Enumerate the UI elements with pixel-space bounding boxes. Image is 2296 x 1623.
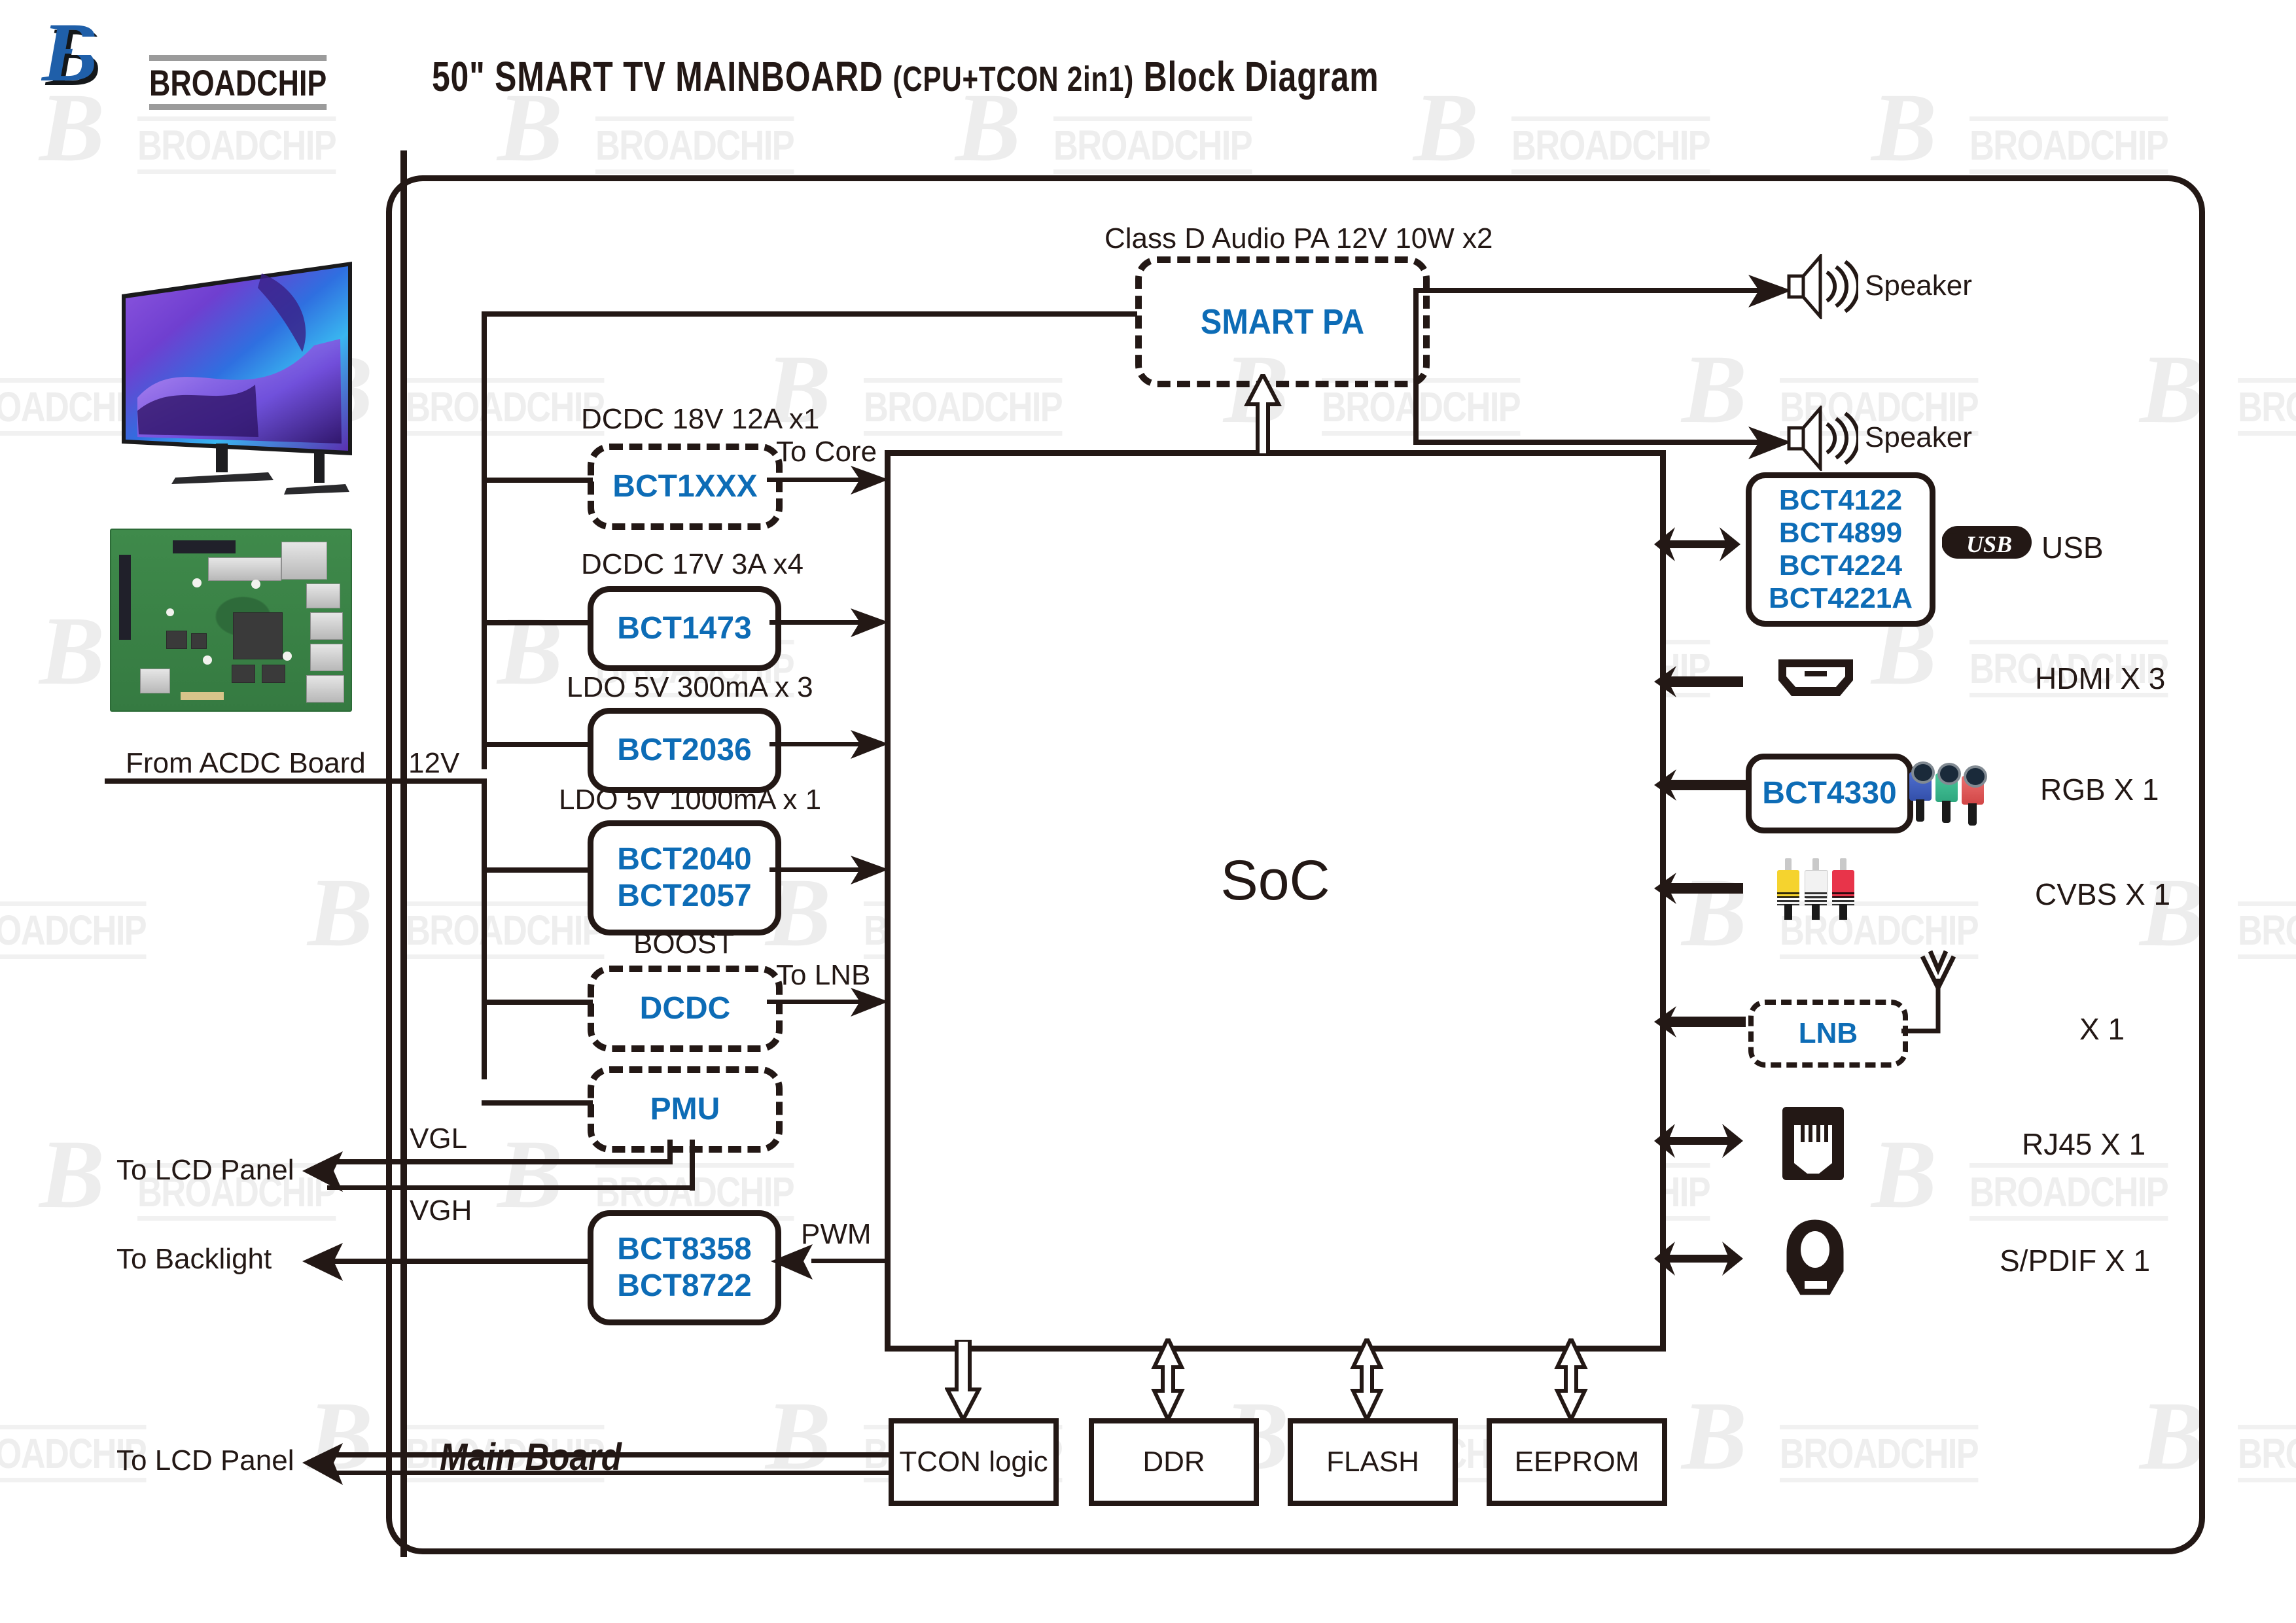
vgh-line — [327, 1185, 695, 1190]
usb-icon: USB — [1942, 522, 2028, 560]
arrow-soc-to-smartpa — [1243, 374, 1282, 455]
bct2040-2057-block[interactable]: BCT2040 BCT2057 — [588, 820, 781, 935]
vgh-label: VGH — [410, 1195, 472, 1227]
board-left-bus — [400, 150, 407, 1557]
eeprom-label: EEPROM — [1515, 1444, 1640, 1480]
smart-pa-block[interactable]: SMART PA — [1135, 256, 1430, 387]
arrow-soc-to-ddr — [1149, 1338, 1187, 1420]
mainboard-photo — [110, 529, 352, 712]
bct4221a-label: BCT4221A — [1769, 582, 1913, 615]
title-paren: (CPU+TCON 2in1) — [892, 60, 1134, 99]
logo-wordmark: BROADCHIP — [149, 55, 327, 110]
arrowhead-rail3 — [851, 726, 889, 763]
lnb-count-label: X 1 — [2079, 1011, 2125, 1047]
usb-parts-block[interactable]: BCT4122 BCT4899 BCT4224 BCT4221A — [1746, 472, 1935, 627]
rail-caption-boost: BOOST — [633, 928, 734, 960]
usb-label: USB — [2041, 530, 2104, 565]
arrowhead-rail4 — [851, 852, 889, 888]
component-rca-icon — [1909, 759, 1994, 831]
dcdc-boost-block[interactable]: DCDC — [588, 966, 783, 1052]
arrowhead-speaker-1 — [1748, 271, 1792, 311]
rgb-label: RGB X 1 — [2040, 772, 2159, 807]
bct4122-label: BCT4122 — [1779, 484, 1902, 517]
dcdc-boost-label: DCDC — [640, 990, 731, 1027]
rj45-icon — [1778, 1103, 1848, 1187]
arrowhead-speaker-2 — [1748, 423, 1792, 463]
tv-product-image — [98, 247, 373, 502]
rail-12v-to-smartpa — [482, 311, 1137, 317]
logo-b-cut — [71, 37, 105, 55]
watermark-text: BROADCHIP — [1053, 116, 1252, 174]
vgl-label: VGL — [410, 1123, 467, 1155]
pwm-line — [811, 1259, 889, 1263]
page-title: 50" SMART TV MAINBOARD (CPU+TCON 2in1) B… — [432, 54, 1379, 102]
broadchip-logo: B BROADCHIP — [39, 14, 347, 93]
smart-pa-label: SMART PA — [1201, 304, 1364, 340]
acdc-to-rail — [400, 778, 486, 784]
to-lcd-panel-label-top: To LCD Panel — [116, 1154, 294, 1187]
bct1xxx-block[interactable]: BCT1XXX — [588, 444, 783, 530]
arrowhead-rail2 — [851, 604, 889, 641]
rail3-in-line — [482, 742, 593, 747]
tcon-logic-block[interactable]: TCON logic — [889, 1418, 1059, 1506]
rail-caption-dcdc-17v: DCDC 17V 3A x4 — [581, 548, 804, 581]
pmu-block[interactable]: PMU — [588, 1066, 783, 1153]
arrow-soc-to-eeprom — [1552, 1338, 1590, 1420]
soc-block[interactable]: SoC — [885, 450, 1666, 1352]
bct8722-label: BCT8722 — [617, 1268, 751, 1304]
rail5-in-line — [482, 1000, 593, 1005]
hdmi-icon — [1775, 654, 1857, 705]
watermark-b-glyph: B — [308, 864, 373, 962]
tcon-out-line-a — [327, 1452, 890, 1457]
spdif-icon — [1780, 1215, 1850, 1304]
ddr-label: DDR — [1142, 1444, 1205, 1480]
soc-label: SoC — [891, 848, 1660, 913]
arrow-soc-hdmi — [1654, 663, 1743, 700]
watermark-text: BROADCHIP — [2238, 901, 2296, 959]
lnb-label: LNB — [1799, 1015, 1858, 1052]
rail-12v-down — [482, 778, 487, 1079]
class-d-audio-caption: Class D Audio PA 12V 10W x2 — [1104, 222, 1492, 255]
arrow-soc-rgb — [1654, 767, 1746, 803]
watermark-unit: BBROADCHIP — [0, 864, 216, 988]
bct1473-block[interactable]: BCT1473 — [588, 586, 781, 671]
speaker-icon-2 — [1786, 406, 1843, 478]
lnb-block[interactable]: LNB — [1748, 1000, 1908, 1068]
bct2036-label: BCT2036 — [617, 732, 751, 769]
arrowhead-to-lcd-top — [302, 1149, 343, 1196]
arrow-soc-to-flash — [1348, 1338, 1386, 1420]
arrow-soc-to-tcon — [945, 1340, 981, 1420]
eeprom-block[interactable]: EEPROM — [1487, 1418, 1667, 1506]
watermark-b-glyph: B — [39, 602, 105, 700]
acdc-input-line — [105, 778, 406, 784]
arrow-soc-spdif — [1654, 1238, 1743, 1280]
rail2-in-line — [482, 620, 593, 625]
rj45-label: RJ45 X 1 — [2022, 1126, 2146, 1162]
arrowhead-to-lcd-bottom — [302, 1439, 343, 1489]
bct4224-label: BCT4224 — [1779, 550, 1902, 582]
speaker-label-2: Speaker — [1865, 421, 1972, 454]
rail-caption-ldo-1000ma: LDO 5V 1000mA x 1 — [559, 784, 821, 816]
rca-icon — [1777, 858, 1856, 924]
pwm-label: PWM — [801, 1218, 872, 1251]
bct4330-block[interactable]: BCT4330 — [1746, 754, 1913, 833]
speaker-label-1: Speaker — [1865, 270, 1972, 302]
antenna-icon — [1896, 947, 1959, 1026]
rail1-in-line — [482, 478, 593, 483]
to-backlight-label: To Backlight — [116, 1243, 272, 1276]
bct1473-label: BCT1473 — [617, 610, 751, 647]
acdc-source-label: From ACDC Board — [126, 747, 366, 780]
arrow-soc-lnb — [1654, 1003, 1746, 1040]
rail1-out-label: To Core — [776, 436, 877, 468]
watermark-b-glyph: B — [39, 1125, 105, 1223]
title-main: 50" SMART TV MAINBOARD — [432, 53, 883, 100]
bct4899-label: BCT4899 — [1779, 517, 1902, 550]
bct2057-label: BCT2057 — [617, 878, 751, 915]
arrow-soc-cvbs — [1654, 870, 1743, 907]
watermark-text: BROADCHIP — [2238, 1425, 2296, 1482]
arrow-soc-rj45 — [1654, 1120, 1743, 1162]
hdmi-label: HDMI X 3 — [2035, 661, 2165, 696]
rail-12v-label: 12V — [408, 747, 459, 780]
watermark-text: BROADCHIP — [1511, 116, 1710, 174]
watermark-b-glyph: B — [1871, 79, 1937, 177]
speaker-icon-1 — [1786, 254, 1843, 326]
arrow-soc-usb — [1654, 523, 1740, 565]
bct4330-label: BCT4330 — [1762, 775, 1896, 812]
svg-text:USB: USB — [1966, 531, 2012, 557]
bct2036-block[interactable]: BCT2036 — [588, 708, 781, 793]
rail-caption-dcdc-18v: DCDC 18V 12A x1 — [581, 403, 819, 436]
pmu-vgh-drop — [690, 1140, 695, 1191]
rail6-in-line — [482, 1100, 593, 1106]
bct1xxx-label: BCT1XXX — [612, 468, 757, 505]
pmu-label: PMU — [650, 1091, 720, 1128]
rail4-in-line — [482, 867, 593, 873]
rail-caption-ldo-300ma: LDO 5V 300mA x 3 — [567, 671, 813, 704]
rail-12v-vertical — [482, 311, 487, 769]
flash-label: FLASH — [1326, 1444, 1419, 1480]
smartpa-to-speaker-1 — [1413, 288, 1767, 293]
backlight-driver-block[interactable]: BCT8358 BCT8722 — [588, 1210, 781, 1325]
watermark-text: BROADCHIP — [2238, 378, 2296, 436]
spdif-label: S/PDIF X 1 — [2000, 1243, 2150, 1278]
smartpa-to-speaker-2 — [1413, 440, 1767, 445]
bct2040-label: BCT2040 — [617, 841, 751, 878]
watermark-b-glyph: B — [1413, 79, 1479, 177]
to-lcd-panel-label-bottom: To LCD Panel — [116, 1444, 294, 1477]
watermark-text: BROADCHIP — [137, 116, 336, 174]
smartpa-out-bus — [1413, 288, 1419, 445]
backlight-out-line — [327, 1259, 589, 1264]
flash-block[interactable]: FLASH — [1288, 1418, 1458, 1506]
vgl-line — [327, 1159, 673, 1164]
watermark-text: BROADCHIP — [595, 116, 794, 174]
watermark-text: BROADCHIP — [1969, 116, 2168, 174]
tcon-logic-label: TCON logic — [899, 1444, 1048, 1480]
bct8358-label: BCT8358 — [617, 1231, 751, 1268]
rail5-out-label: To LNB — [776, 959, 870, 992]
cvbs-label: CVBS X 1 — [2035, 877, 2170, 912]
watermark-text: BROADCHIP — [0, 901, 146, 959]
tcon-out-line-b — [327, 1471, 890, 1475]
ddr-block[interactable]: DDR — [1089, 1418, 1259, 1506]
title-tail: Block Diagram — [1144, 53, 1379, 100]
arrowhead-to-backlight — [302, 1240, 343, 1283]
